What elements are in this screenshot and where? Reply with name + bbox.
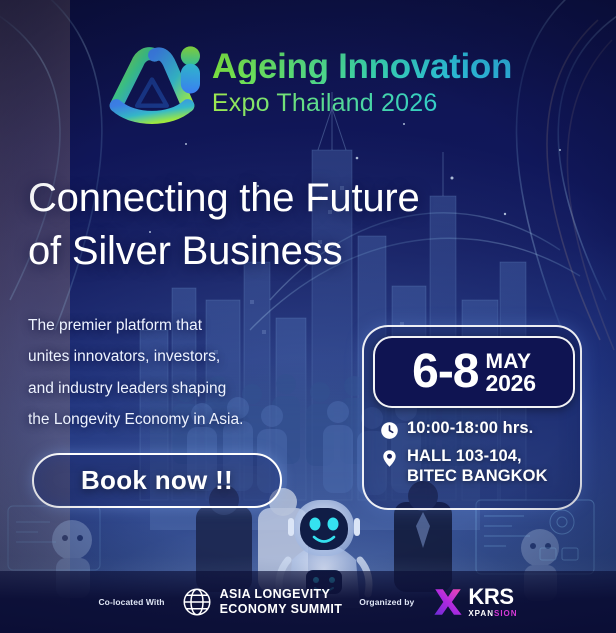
brand-wordmark: Ageing Innovation Expo Thailand 2026: [212, 49, 512, 116]
ai-triangle-logo-icon: [104, 40, 200, 126]
event-info-card: 6-8 MAY 2026 10:00-18:00 hrs.: [362, 325, 582, 510]
krs-xpansion-logo[interactable]: KRS XPANSION: [431, 585, 517, 619]
organizer-label: Organized by: [359, 597, 414, 607]
event-date-badge: 6-8 MAY 2026: [373, 336, 575, 408]
clock-icon: [380, 421, 399, 440]
asia-longevity-summit-logo[interactable]: ASIA LONGEVITY ECONOMY SUMMIT: [182, 587, 343, 618]
krs-tagline-white: XPAN: [468, 609, 494, 618]
colocated-label: Co-located With: [98, 597, 164, 607]
x-mark-icon: [431, 585, 465, 619]
description-text: The premier platform that unites innovat…: [28, 310, 243, 436]
als-line-1: ASIA LONGEVITY: [220, 587, 343, 602]
globe-icon: [182, 587, 212, 617]
krs-wordmark: KRS XPANSION: [468, 586, 517, 618]
event-date-days: 6-8: [412, 350, 478, 394]
event-time-row: 10:00-18:00 hrs.: [380, 419, 571, 440]
asia-longevity-summit-wordmark: ASIA LONGEVITY ECONOMY SUMMIT: [220, 587, 343, 618]
als-line-2: ECONOMY SUMMIT: [220, 602, 343, 617]
event-date-month-year: MAY 2026: [486, 351, 536, 396]
book-now-label: Book now !!: [81, 465, 233, 496]
event-date-year: 2026: [486, 372, 536, 395]
lede-line-1: The premier platform that: [28, 310, 243, 341]
brand-lockup: Ageing Innovation Expo Thailand 2026: [0, 38, 616, 126]
krs-name: KRS: [468, 586, 517, 608]
brand-title: Ageing Innovation: [212, 49, 512, 84]
event-time: 10:00-18:00 hrs.: [407, 419, 533, 439]
lede-line-3: and industry leaders shaping: [28, 373, 243, 404]
map-pin-icon: [380, 449, 399, 468]
headline-line-1: Connecting the Future: [28, 172, 420, 225]
headline-line-2: of Silver Business: [28, 225, 420, 278]
event-venue-line-2: BITEC BANGKOK: [407, 467, 548, 487]
event-date-month: MAY: [486, 351, 536, 372]
event-details-list: 10:00-18:00 hrs. HALL 103-104, BITEC BAN…: [373, 419, 571, 487]
lede-line-2: unites innovators, investors,: [28, 341, 243, 372]
krs-tagline: XPANSION: [468, 610, 517, 618]
event-venue-row: HALL 103-104, BITEC BANGKOK: [380, 447, 571, 487]
brand-subtitle: Expo Thailand 2026: [212, 91, 512, 116]
partners-footer: Co-located With ASIA LONGEVITY ECONOMY S…: [0, 571, 616, 633]
book-now-button[interactable]: Book now !!: [32, 453, 282, 508]
event-venue-line-1: HALL 103-104,: [407, 447, 548, 467]
krs-tagline-accent: SION: [494, 609, 518, 618]
promo-poster: Ageing Innovation Expo Thailand 2026 Con…: [0, 0, 616, 633]
page-title: Connecting the Future of Silver Business: [28, 172, 420, 278]
event-venue: HALL 103-104, BITEC BANGKOK: [407, 447, 548, 487]
lede-line-4: the Longevity Economy in Asia.: [28, 404, 243, 435]
